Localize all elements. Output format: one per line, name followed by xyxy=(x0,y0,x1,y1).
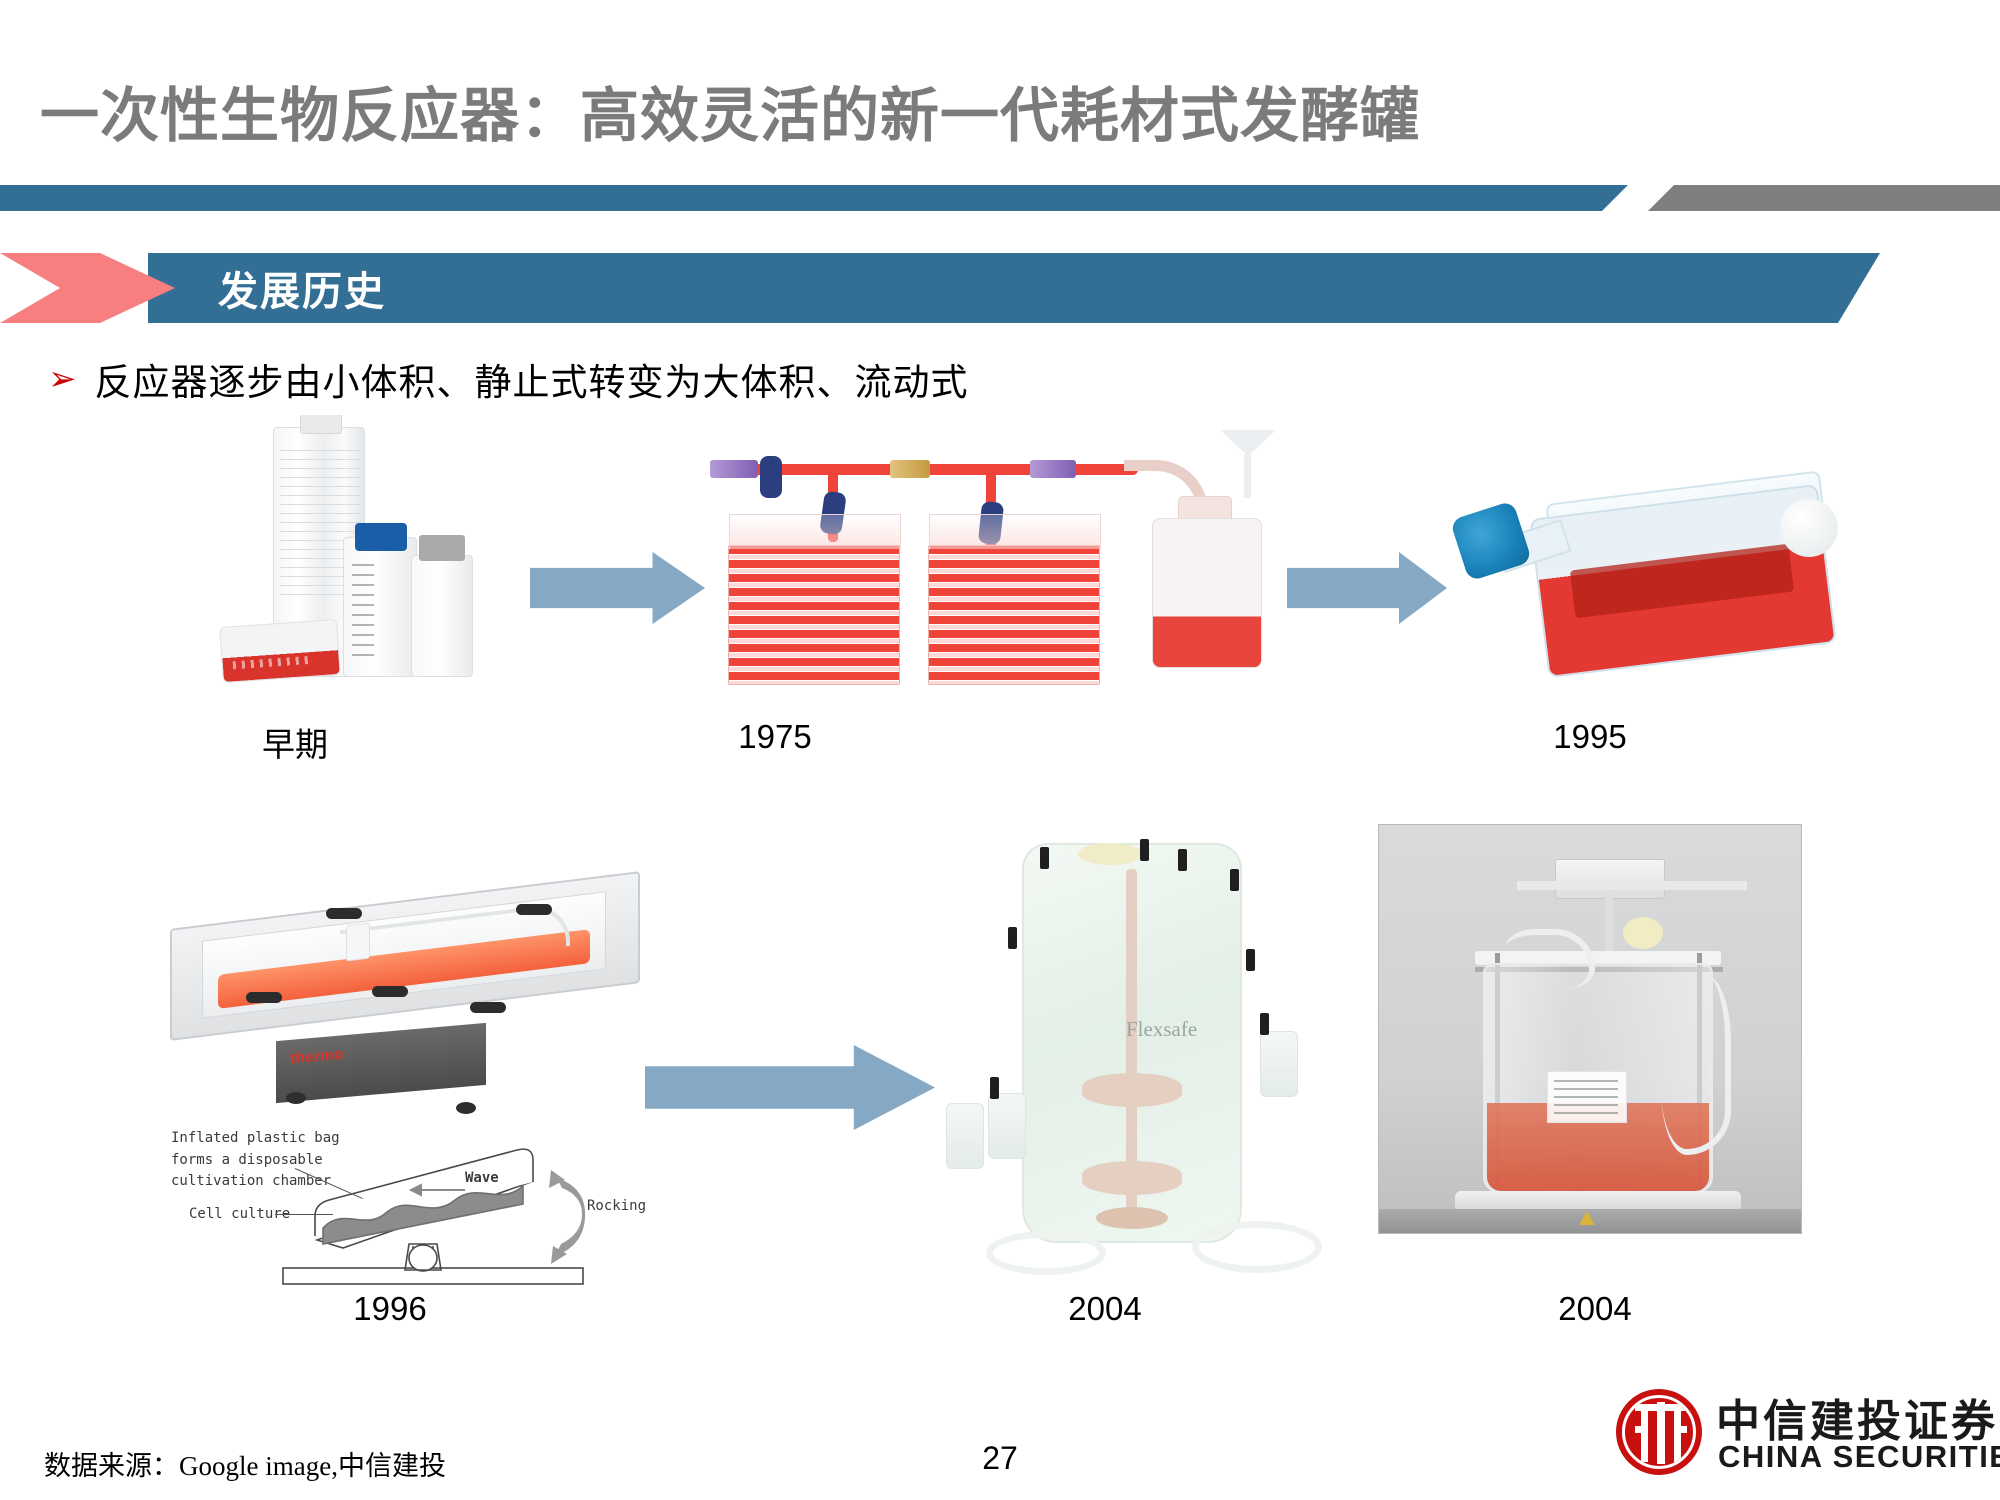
schematic-label-bag: Inflated plastic bagforms a disposablecu… xyxy=(171,1128,340,1193)
clamp-handle-2 xyxy=(516,904,552,915)
section-banner: 发展历史 xyxy=(0,253,1880,323)
tube-clamp-3 xyxy=(1178,849,1187,871)
arrow-right-icon-1 xyxy=(530,552,705,624)
section-banner-bar xyxy=(148,253,1880,323)
bag-tube-1 xyxy=(930,825,1030,1005)
exhaust-filter xyxy=(1623,917,1663,949)
top-port xyxy=(1078,843,1142,865)
emblem-bar-right xyxy=(1674,1408,1681,1462)
title-underline-blue xyxy=(0,185,1628,211)
gray-cap-icon xyxy=(419,535,465,561)
company-logo: 中信建投证券 CHINA SECURITIES xyxy=(1616,1383,1976,1483)
page-title: 一次性生物反应器：高效灵活的新一代耗材式发酵罐 xyxy=(40,68,1420,153)
tube-clamp-1 xyxy=(1040,847,1049,869)
caption-row1-1: 早期 xyxy=(175,718,415,766)
caption-row2-2: 2004 xyxy=(960,1290,1250,1328)
emblem-tick-left xyxy=(1635,1426,1647,1433)
rocker-foot-2 xyxy=(456,1102,476,1114)
schematic-label-wave: Wave xyxy=(465,1168,499,1190)
vessel-tube-1 xyxy=(1505,929,1595,989)
tube-clamp-1 xyxy=(760,456,782,498)
figure-stirred-tank-bioreactor xyxy=(1378,824,1802,1234)
slide-canvas: 一次性生物反应器：高效灵活的新一代耗材式发酵罐 发展历史 ➢ 反应器逐步由小体积… xyxy=(0,0,2000,1500)
impeller-1 xyxy=(1082,1073,1182,1107)
clamp-handle-3 xyxy=(246,992,282,1003)
valve-icon-3 xyxy=(1030,460,1076,478)
bullet-row: ➢ 反应器逐步由小体积、静止式转变为大体积、流动式 xyxy=(48,352,969,406)
t-flask xyxy=(219,619,341,683)
figure-culture-flasks xyxy=(215,415,475,685)
bullet-arrow-icon: ➢ xyxy=(48,362,77,396)
tube-clamp-4 xyxy=(1230,869,1239,891)
funnel-stem xyxy=(1244,454,1251,498)
valve-icon-2 xyxy=(890,460,930,478)
emblem-bar-center xyxy=(1657,1402,1665,1464)
caption-row1-3: 1995 xyxy=(1470,718,1710,756)
cell-factory-stack-1 xyxy=(728,545,900,685)
figure-wave-rocker: thermo xyxy=(160,820,660,1120)
blue-cap-icon xyxy=(1452,500,1532,581)
tube-clamp-5 xyxy=(1008,927,1017,949)
tube-clamp-7 xyxy=(990,1077,999,1099)
tubing-coil-2 xyxy=(986,1231,1106,1275)
impeller-2 xyxy=(1082,1161,1182,1195)
citic-emblem-icon xyxy=(1616,1389,1702,1475)
caption-row2-1: 1996 xyxy=(190,1290,590,1328)
citic-emblem-inner xyxy=(1622,1395,1696,1469)
drive-motor xyxy=(1555,859,1665,899)
figure-wave-schematic: Inflated plastic bagforms a disposablecu… xyxy=(165,1120,685,1285)
tubing-coil-1 xyxy=(1192,1221,1322,1273)
bag-filter-3 xyxy=(1260,1031,1298,1097)
tube-clamp-2 xyxy=(1140,839,1149,861)
reagent-bottle xyxy=(411,555,473,677)
clamp-handle-1 xyxy=(326,908,362,919)
bag-filter xyxy=(346,923,370,962)
caption-row2-3: 2004 xyxy=(1450,1290,1740,1328)
tube-clamp-6 xyxy=(1246,949,1255,971)
emblem-tick-right xyxy=(1675,1426,1687,1433)
blue-cap-icon xyxy=(355,523,407,551)
cell-factory-stack-2 xyxy=(928,545,1100,685)
figure-cell-factory-stacks xyxy=(700,430,1300,695)
figure-celline-flask xyxy=(1452,465,1852,695)
bag-filter-2 xyxy=(988,1093,1026,1159)
vessel-label-tag xyxy=(1547,1071,1627,1123)
media-bottle xyxy=(343,537,417,677)
clamp-handle-4 xyxy=(372,986,408,997)
valve-icon-1 xyxy=(710,460,758,478)
emblem-bar-left xyxy=(1641,1408,1648,1462)
bag-brand-label: Flexsafe xyxy=(1126,1017,1197,1042)
clamp-handle-5 xyxy=(470,1002,506,1013)
arrow-right-icon-2 xyxy=(1287,552,1447,624)
schematic-leader-line-2 xyxy=(275,1214,333,1215)
logo-text-en: CHINA SECURITIES xyxy=(1718,1439,2000,1475)
support-beam xyxy=(1517,881,1747,890)
warning-icon xyxy=(1579,1211,1595,1225)
figure-flexsafe-bag: Flexsafe xyxy=(930,825,1350,1285)
schematic-label-rocking: Rocking xyxy=(587,1196,646,1218)
white-plug-icon xyxy=(1780,499,1838,557)
bullet-text: 反应器逐步由小体积、静止式转变为大体积、流动式 xyxy=(95,352,969,406)
section-title: 发展历史 xyxy=(218,253,386,323)
vessel-tube-2 xyxy=(1661,975,1731,1155)
arrow-right-icon-3 xyxy=(645,1045,935,1130)
caption-row1-2: 1975 xyxy=(655,718,895,756)
funnel-icon xyxy=(1220,430,1276,456)
tube-clamp-8 xyxy=(1260,1013,1269,1035)
title-underline-gray xyxy=(1648,185,2000,211)
rocker-foot-1 xyxy=(286,1092,306,1104)
drive-shaft xyxy=(1605,895,1613,955)
media-bottle-large xyxy=(1152,518,1262,668)
bag-filter-1 xyxy=(946,1103,984,1169)
sparger-disc xyxy=(1096,1207,1168,1229)
